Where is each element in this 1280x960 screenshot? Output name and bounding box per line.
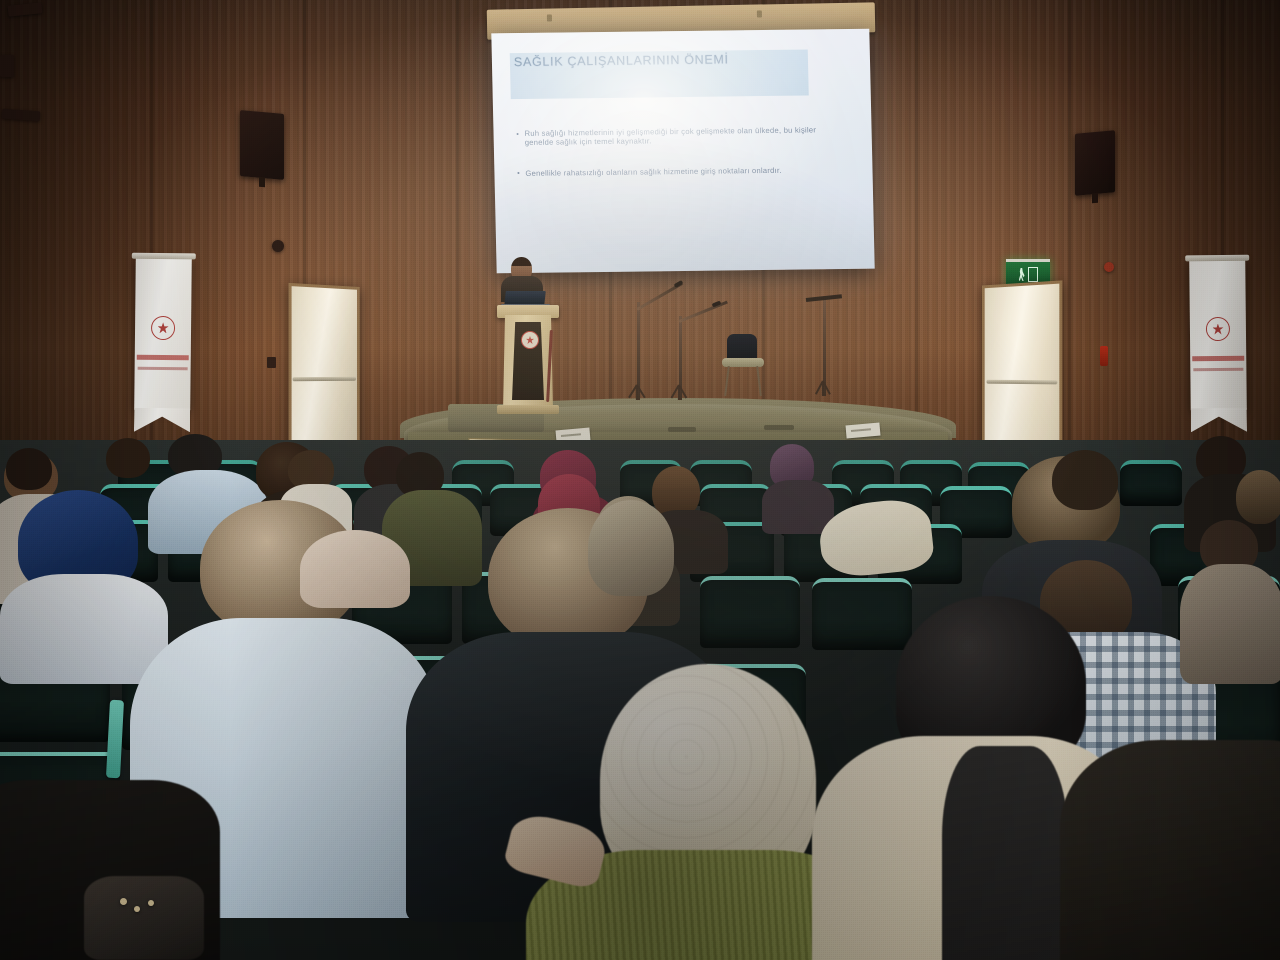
mic-tripod-legs — [656, 386, 702, 400]
banner-logo-icon — [151, 316, 175, 340]
running-man-icon — [1019, 268, 1025, 281]
banner-subtext-band — [138, 367, 187, 371]
banner-subtext-band — [1194, 368, 1243, 372]
stand-tripod-legs — [800, 382, 846, 396]
boot-stud-icon — [120, 898, 127, 905]
banner-text-band — [137, 355, 189, 361]
light-switch-icon[interactable] — [267, 357, 276, 368]
auditorium-photo: SAĞLIK ÇALIŞANLARININ ÖNEMİ Ruh sağlığı … — [0, 0, 1280, 960]
right-side-door[interactable] — [982, 280, 1062, 461]
fire-extinguisher-icon — [1100, 346, 1108, 366]
auditorium-seat[interactable] — [812, 578, 912, 650]
microphone-stand-right — [654, 316, 704, 400]
music-stand — [800, 296, 846, 396]
wall-speaker-right-icon — [1075, 130, 1115, 195]
banner-logo-icon — [1206, 317, 1230, 341]
left-side-door[interactable] — [289, 283, 360, 455]
lectern-base — [497, 405, 559, 414]
exit-door-icon — [1028, 267, 1038, 282]
banner-rod — [132, 253, 196, 260]
wall-bracket-icon — [0, 55, 14, 77]
boot-stud-icon — [134, 906, 140, 912]
auditorium-seat[interactable] — [1120, 460, 1182, 506]
left-wall-banner — [134, 258, 192, 411]
attendee-black-scarf-drape — [942, 746, 1068, 960]
wall-speaker-left-icon — [240, 110, 284, 180]
wall-alarm-icon — [1104, 262, 1114, 272]
door-frame — [982, 280, 1062, 461]
wall-light-icon — [272, 240, 284, 252]
projection-screen: SAĞLIK ÇALIŞANLARININ ÖNEMİ Ruh sağlığı … — [491, 29, 874, 274]
slide-bullet: Ruh sağlığı hizmetlerinin iyi gelişmediğ… — [515, 125, 835, 147]
slide-bullet-list: Ruh sağlığı hizmetlerinin iyi gelişmediğ… — [515, 125, 837, 199]
slide-bullet: Genellikle rahatsızlığı olanların sağlık… — [516, 165, 836, 178]
banner-text-band — [1192, 356, 1244, 362]
banner-rod — [1185, 255, 1249, 262]
boot-stud-icon — [148, 900, 154, 906]
door-push-bar-icon[interactable] — [987, 380, 1058, 385]
auditorium-seat[interactable] — [700, 576, 800, 648]
right-wall-banner — [1189, 260, 1247, 411]
lectern-emblem-icon — [521, 331, 539, 349]
stage-floor-marker — [764, 425, 794, 430]
stage-floor-marker — [668, 427, 696, 432]
door-frame — [289, 283, 360, 455]
